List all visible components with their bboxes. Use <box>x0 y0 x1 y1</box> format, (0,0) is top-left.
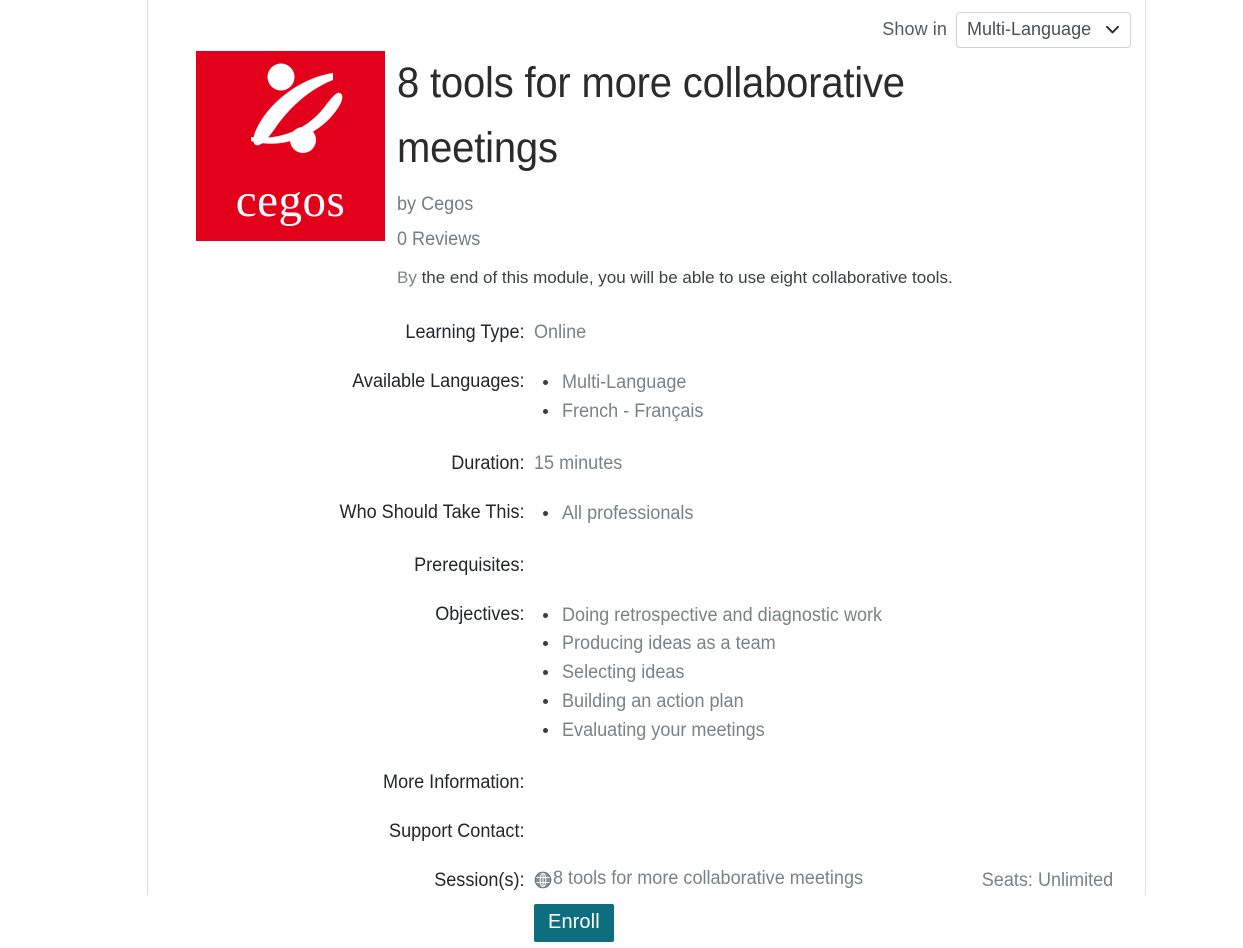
session-entry: 8 tools for more collaborative meetingsE… <box>534 868 1148 942</box>
detail-row-label: Support Contact: <box>167 819 534 846</box>
detail-row: Support Contact: <box>148 819 1148 846</box>
globe-icon <box>534 871 552 889</box>
cegos-logo: cegos <box>196 51 385 241</box>
detail-row-value: 15 minutes <box>534 451 1148 478</box>
description-rest: the end of this module, you will be able… <box>417 268 953 287</box>
list-item: Producing ideas as a team <box>560 630 1148 659</box>
course-byline: by Cegos <box>397 195 1090 216</box>
course-header: cegos 8 tools for more collaborative mee… <box>196 51 1126 288</box>
sessions-value: 8 tools for more collaborative meetingsE… <box>534 868 1148 942</box>
detail-value-list: Multi-LanguageFrench - Français <box>534 369 1148 427</box>
detail-row: More Information: <box>148 770 1148 797</box>
course-details: Learning Type:OnlineAvailable Languages:… <box>148 320 1148 948</box>
detail-row-value: Multi-LanguageFrench - Français <box>534 369 1148 427</box>
list-item: Multi-Language <box>560 369 1148 398</box>
language-select-wrapper[interactable]: Multi-Language <box>956 12 1131 48</box>
detail-row-label: Who Should Take This: <box>167 500 534 527</box>
detail-value-list: Doing retrospective and diagnostic workP… <box>534 602 1148 746</box>
list-item: Building an action plan <box>560 688 1148 717</box>
cegos-figure-icon <box>196 51 385 181</box>
detail-row: Learning Type:Online <box>148 320 1148 347</box>
content-panel: Show in Multi-Language cegos <box>147 0 1146 895</box>
detail-row-value: Online <box>534 320 1148 347</box>
detail-row: Who Should Take This:All professionals <box>148 500 1148 529</box>
detail-value-text: Online <box>534 320 1117 347</box>
session-title-line: 8 tools for more collaborative meetings <box>534 868 973 891</box>
sessions-label: Session(s): <box>167 868 534 895</box>
course-header-text: 8 tools for more collaborative meetings … <box>397 51 1126 288</box>
list-item: Doing retrospective and diagnostic work <box>560 602 1148 631</box>
detail-row-value: All professionals <box>534 500 1148 529</box>
list-item: All professionals <box>560 500 1148 529</box>
list-item: Selecting ideas <box>560 659 1148 688</box>
detail-row: Prerequisites: <box>148 553 1148 580</box>
detail-row: Duration:15 minutes <box>148 451 1148 478</box>
detail-value-text: 15 minutes <box>534 451 1117 478</box>
session-main: 8 tools for more collaborative meetingsE… <box>534 868 973 942</box>
detail-row-label: Prerequisites: <box>167 553 534 580</box>
detail-row: Available Languages:Multi-LanguageFrench… <box>148 369 1148 427</box>
description-lead-word: By <box>397 268 417 287</box>
detail-row-label: Duration: <box>167 451 534 478</box>
detail-row-label: Learning Type: <box>167 320 534 347</box>
cegos-wordmark: cegos <box>196 178 385 225</box>
detail-row-label: More Information: <box>167 770 534 797</box>
detail-row: Objectives:Doing retrospective and diagn… <box>148 602 1148 746</box>
enroll-button[interactable]: Enroll <box>534 904 614 942</box>
list-item: French - Français <box>560 398 1148 427</box>
show-in-label: Show in <box>882 19 947 40</box>
detail-row-label: Objectives: <box>167 602 534 629</box>
course-detail-page: Show in Multi-Language cegos <box>0 0 1243 900</box>
sessions-row: Session(s):8 tools for more collaborativ… <box>148 868 1148 942</box>
detail-row-value: Doing retrospective and diagnostic workP… <box>534 602 1148 746</box>
course-description: By the end of this module, you will be a… <box>397 267 1126 288</box>
detail-row-label: Available Languages: <box>167 369 534 396</box>
language-select[interactable]: Multi-Language <box>956 12 1131 48</box>
seats-label: Seats: Unlimited <box>981 868 1148 893</box>
list-item: Evaluating your meetings <box>560 717 1148 746</box>
course-reviews: 0 Reviews <box>397 230 1090 251</box>
language-selector-bar: Show in Multi-Language <box>882 12 1131 48</box>
page-title: 8 tools for more collaborative meetings <box>397 51 1075 182</box>
session-name: 8 tools for more collaborative meetings <box>553 868 863 891</box>
detail-value-list: All professionals <box>534 500 1148 529</box>
